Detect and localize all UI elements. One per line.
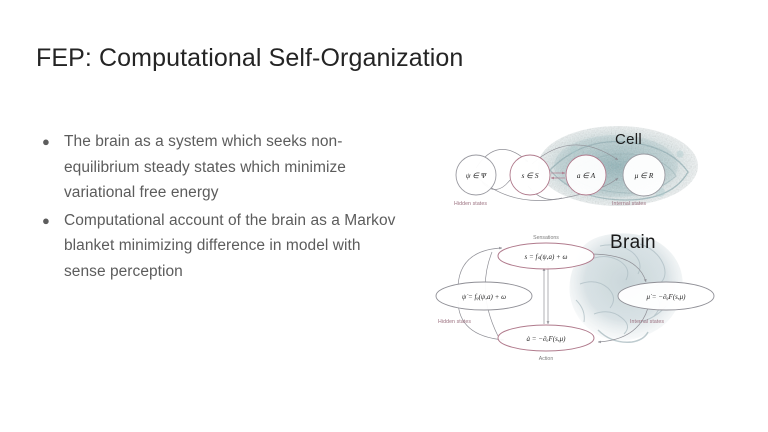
figure-area: Cell: [432, 120, 768, 370]
brain-node-action-label: ȧ = −∂ₐF(s,μ): [527, 335, 567, 343]
cell-node-sensory-label: s ∈ S: [522, 171, 539, 180]
brain-caption-hidden-states: Hidden states: [438, 319, 471, 325]
cell-node-internal-label: μ ∈ R: [635, 171, 654, 180]
list-item: ● The brain as a system which seeks non-…: [38, 129, 398, 206]
cell-diagram-graph: ψ ∈ Ψ s ∈ S a ∈ A μ ∈ R Hidden states In…: [432, 120, 768, 220]
brain-caption-action: Action: [539, 356, 554, 362]
brain-caption-sensations: Sensations: [533, 235, 559, 241]
cell-diagram: Cell: [432, 120, 768, 220]
cell-panel-title: Cell: [615, 131, 642, 148]
bullet-text: Computational account of the brain as a …: [64, 208, 398, 285]
cell-caption-hidden-states: Hidden states: [454, 201, 487, 207]
cell-node-hidden-label: ψ ∈ Ψ: [466, 171, 487, 180]
brain-diagram: Brain s: [432, 224, 768, 366]
brain-node-sensations-label: s = fₛ(ψ,a) + ω: [525, 253, 568, 261]
bullet-text: The brain as a system which seeks non-eq…: [64, 129, 398, 206]
brain-node-internal-label: μ̇ = −∂ᵩF(s,μ): [647, 293, 687, 301]
slide-canvas: FEP: Computational Self-Organization ● T…: [0, 0, 768, 432]
page-title: FEP: Computational Self-Organization: [36, 42, 463, 74]
bullet-list: ● The brain as a system which seeks non-…: [38, 129, 398, 286]
brain-caption-internal-states: Internal states: [630, 319, 664, 325]
bullet-marker-icon: ●: [38, 208, 64, 233]
cell-caption-internal-states: Internal states: [612, 201, 646, 207]
brain-diagram-graph: s = fₛ(ψ,a) + ω Sensations ψ̇ = fᵩ(ψ,a) …: [432, 224, 768, 366]
cell-node-active-label: a ∈ A: [577, 171, 596, 180]
brain-node-hidden-label: ψ̇ = fᵩ(ψ,a) + ω: [462, 293, 506, 301]
brain-panel-title: Brain: [610, 232, 656, 254]
bullet-marker-icon: ●: [38, 129, 64, 154]
list-item: ● Computational account of the brain as …: [38, 208, 398, 285]
